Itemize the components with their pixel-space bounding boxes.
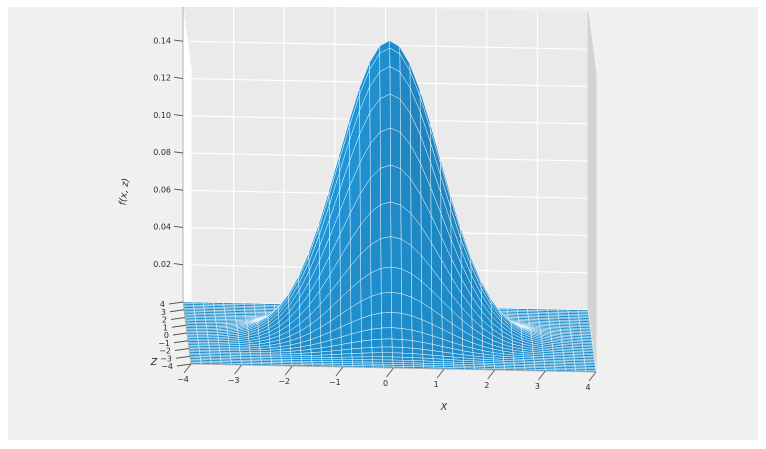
f-tick-label: 0.12 — [153, 74, 171, 83]
z-axis-label: Z — [150, 357, 158, 368]
z-tick-label: −4 — [161, 362, 173, 371]
z-tick-label: 2 — [162, 316, 167, 325]
f-tick-label: 0.06 — [153, 185, 171, 194]
x-tick-label: 0 — [383, 379, 388, 388]
z-tick-label: 3 — [161, 308, 166, 317]
x-tick-label: 3 — [535, 382, 540, 391]
z-tick-label: 1 — [163, 323, 168, 332]
f-tick-label: 0.04 — [153, 223, 171, 232]
x-tick-label: 1 — [434, 380, 439, 389]
x-tick-label: 4 — [585, 383, 590, 392]
f-tick-label: 0.08 — [153, 148, 171, 157]
x-tick-label: 2 — [484, 381, 489, 390]
z-tick-label: −3 — [160, 354, 172, 363]
x-tick-label: −4 — [177, 375, 189, 384]
z-tick-label: −1 — [158, 339, 170, 348]
x-tick-label: −1 — [329, 378, 341, 387]
z-tick-label: 0 — [164, 331, 169, 340]
x-axis-label: X — [440, 402, 448, 413]
z-tick-label: −2 — [159, 347, 171, 356]
x-tick-label: −2 — [278, 377, 290, 386]
f-tick-label: 0.10 — [153, 111, 171, 120]
figure-canvas: Standard Bivariate Normal Distribution, … — [8, 7, 758, 440]
f-axis-label: f(x, z) — [117, 177, 131, 206]
f-tick-label: 0.02 — [153, 260, 171, 269]
surface-plot-3d: −4−3−2−101234−4−3−2−1012340.020.040.060.… — [8, 7, 758, 440]
z-tick-label: 4 — [160, 300, 165, 309]
f-tick-label: 0.14 — [153, 36, 171, 45]
x-tick-label: −3 — [228, 376, 240, 385]
